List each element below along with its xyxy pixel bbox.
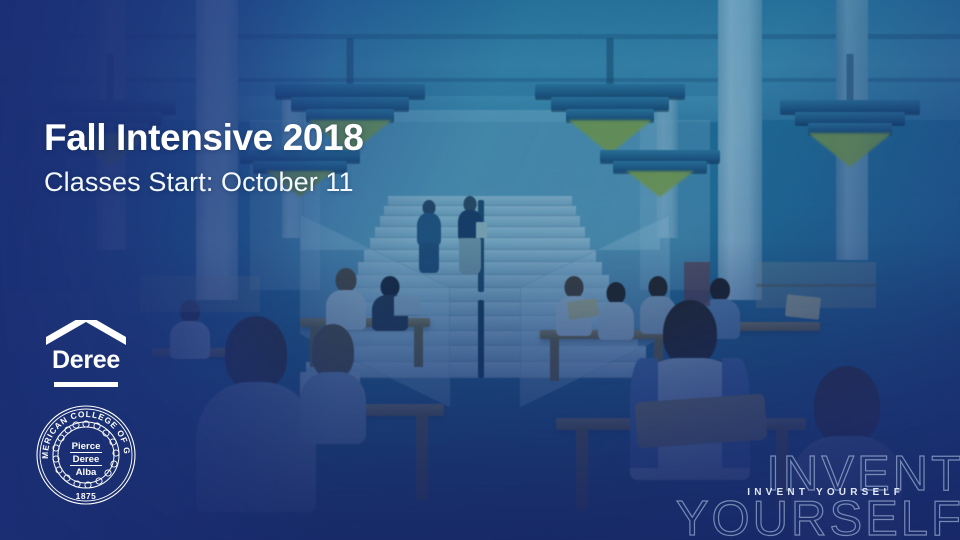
tagline-line-2: YOURSELF [676,497,960,540]
deree-logo[interactable]: Deree [44,320,128,387]
seal-line-1: Pierce [72,441,101,452]
tagline-small: INVENT YOURSELF [747,487,904,498]
seal-year: 1875 [76,491,97,501]
seal-line-3: Alba [76,467,97,478]
deree-logo-text: Deree [44,348,128,373]
arch-chevron-icon [44,320,128,346]
deree-logo-bar [54,382,118,387]
promo-slide: Fall Intensive 2018 Classes Start: Octob… [0,0,960,540]
page-title: Fall Intensive 2018 [44,119,363,156]
subtitle: Classes Start: October 11 [44,169,354,196]
slide-content: Fall Intensive 2018 Classes Start: Octob… [0,0,960,540]
acg-seal[interactable]: THE AMERICAN COLLEGE OF GREECE Pierce De… [35,404,137,506]
seal-line-2: Deree [73,454,100,465]
